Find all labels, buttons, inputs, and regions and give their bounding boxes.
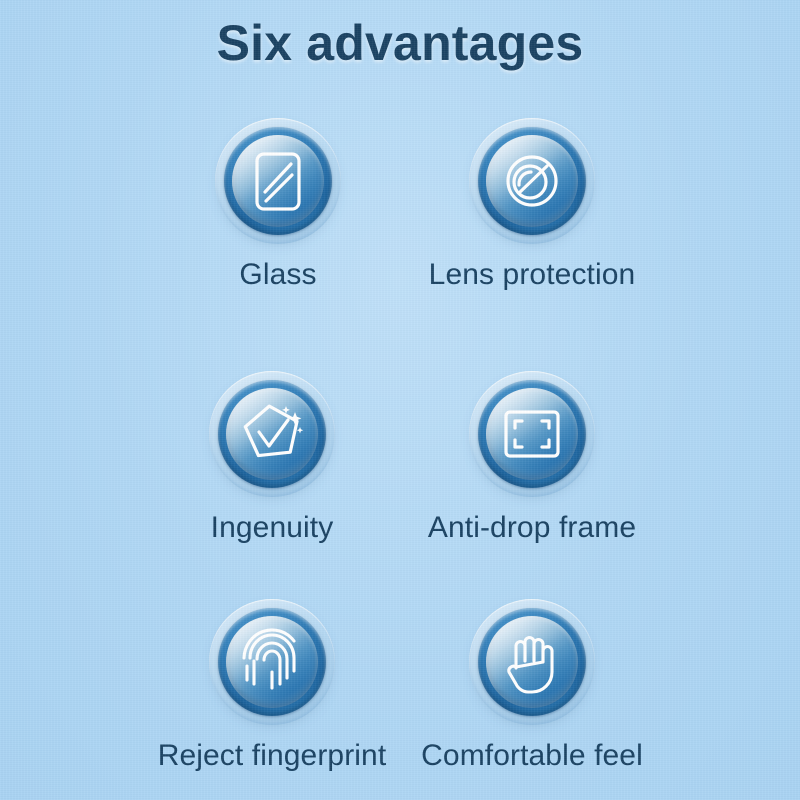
fingerprint-icon (226, 616, 318, 708)
camera-lens-icon (486, 135, 578, 227)
open-hand-icon (486, 616, 578, 708)
feature-badge[interactable] (469, 599, 595, 725)
feature-badge[interactable] (209, 371, 335, 497)
feature-item-comfortable-feel[interactable]: Comfortable feel (332, 599, 732, 800)
feature-badge[interactable] (469, 371, 595, 497)
feature-badge[interactable] (215, 118, 341, 244)
feature-badge[interactable] (209, 599, 335, 725)
feature-label: Glass (239, 258, 316, 292)
features-grid: Glass (0, 118, 800, 800)
feature-label: Anti-drop frame (428, 511, 636, 545)
diamond-check-icon (226, 388, 318, 480)
feature-badge[interactable] (469, 118, 595, 244)
advantages-poster: Six advantages Glas (0, 0, 800, 800)
feature-label: Lens protection (429, 258, 636, 292)
feature-label: Ingenuity (211, 511, 334, 545)
feature-item-anti-drop-frame[interactable]: Anti-drop frame (332, 371, 732, 598)
corner-frame-icon (486, 388, 578, 480)
feature-item-lens-protection[interactable]: Lens protection (332, 118, 732, 345)
page-title: Six advantages (0, 14, 800, 72)
glass-screen-icon (232, 135, 324, 227)
feature-label: Comfortable feel (421, 739, 643, 773)
